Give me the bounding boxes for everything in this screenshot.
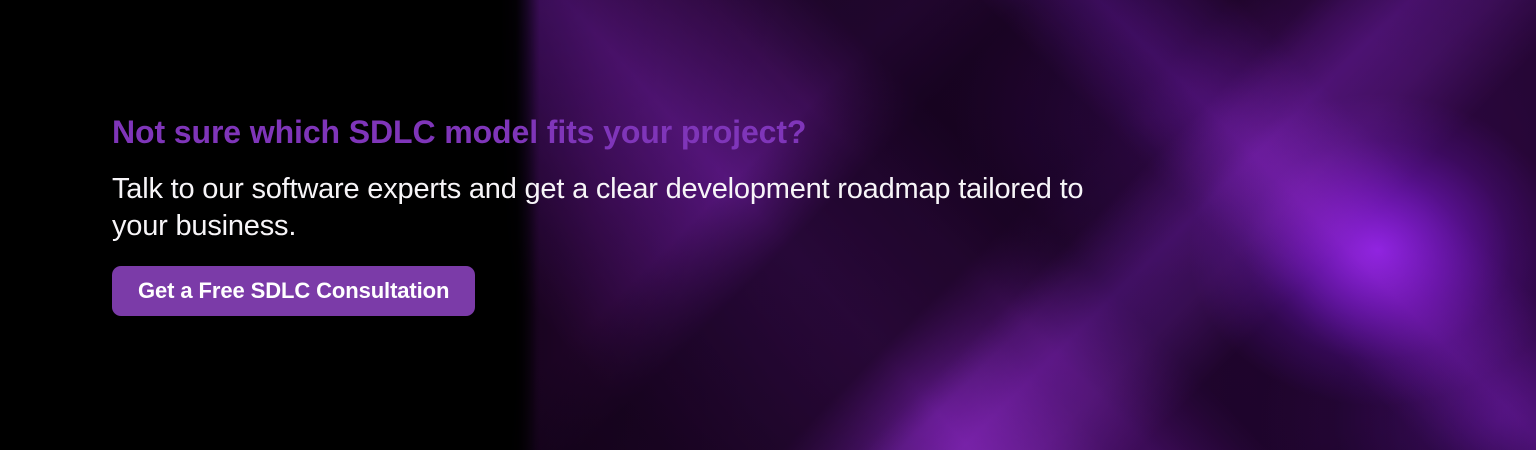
banner-headline: Not sure which SDLC model fits your proj… — [112, 112, 1172, 152]
cta-banner: Not sure which SDLC model fits your proj… — [0, 0, 1536, 450]
banner-content: Not sure which SDLC model fits your proj… — [112, 112, 1172, 316]
banner-subcopy: Talk to our software experts and get a c… — [112, 152, 1127, 245]
get-free-sdlc-consultation-button[interactable]: Get a Free SDLC Consultation — [112, 266, 475, 316]
